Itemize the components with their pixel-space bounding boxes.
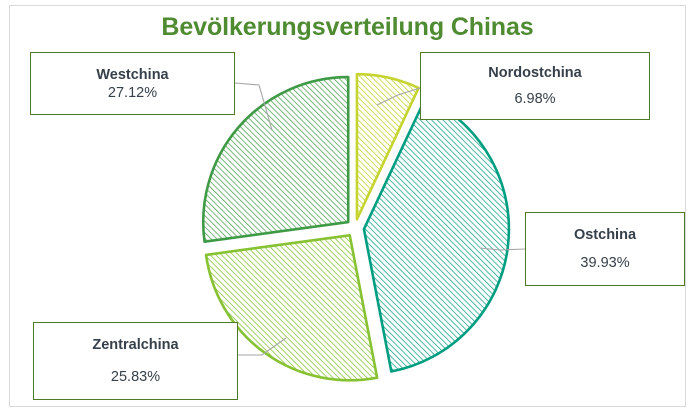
- data-label-westchina-name: Westchina: [96, 67, 168, 83]
- data-label-nordostchina[interactable]: Nordostchina 6.98%: [420, 52, 650, 120]
- leader-line-west: [235, 83, 272, 130]
- leader-line-central: [238, 338, 286, 355]
- data-label-ostchina-name: Ostchina: [574, 227, 636, 243]
- data-label-zentralchina[interactable]: Zentralchina 25.83%: [33, 322, 238, 400]
- leader-line-east: [480, 248, 525, 250]
- data-label-westchina[interactable]: Westchina 27.12%: [30, 52, 235, 115]
- pie-chart-container: Bevölkerungsverteilung Chinas: [0, 0, 695, 415]
- data-label-nordostchina-value: 6.98%: [514, 91, 555, 107]
- data-label-westchina-value: 27.12%: [108, 85, 157, 101]
- data-label-nordostchina-name: Nordostchina: [488, 65, 581, 81]
- data-label-ostchina-value: 39.93%: [580, 255, 629, 271]
- data-label-zentralchina-value: 25.83%: [111, 369, 160, 385]
- data-label-ostchina[interactable]: Ostchina 39.93%: [525, 212, 685, 286]
- data-label-zentralchina-name: Zentralchina: [92, 337, 178, 353]
- leader-line-northeast: [377, 88, 420, 105]
